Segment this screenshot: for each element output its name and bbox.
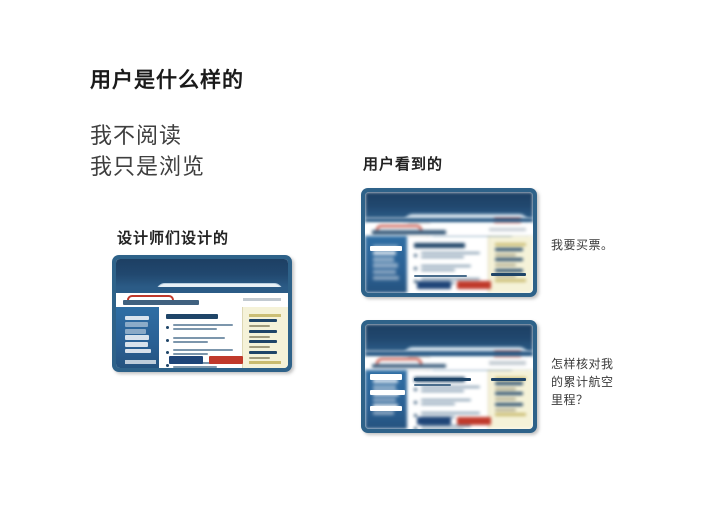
focus-first-bullet: [414, 378, 471, 381]
subhead-line-1: 我不阅读: [90, 120, 205, 151]
focus-rail-heading: [491, 273, 526, 276]
sidebar-footer-link[interactable]: [125, 360, 156, 364]
focus-sidebar-choose-a-flight[interactable]: [370, 406, 402, 411]
enroll-button[interactable]: [417, 417, 451, 425]
user-quote-2-line-1: 怎样核对我: [551, 355, 614, 373]
enroll-button[interactable]: [417, 281, 451, 289]
site-sidebar: [365, 236, 407, 293]
screenshot-user-version-1[interactable]: [361, 188, 537, 297]
site-date: [243, 298, 281, 302]
focus-sidebar-track-my-miles[interactable]: [370, 246, 402, 251]
rail-item[interactable]: [495, 258, 526, 266]
cta-button-row: [417, 281, 491, 289]
learn-more-button[interactable]: [457, 417, 491, 425]
enroll-button[interactable]: [169, 356, 203, 364]
site-right-rail: [242, 307, 288, 368]
sidebar-item-office-traveler-hub[interactable]: [125, 349, 151, 354]
bullet-dot-icon: [414, 267, 417, 270]
site-body: [365, 236, 533, 293]
biztravel-logo[interactable]: [372, 225, 446, 234]
focus-sidebar-check-a-fare[interactable]: [370, 390, 405, 395]
sidebar-item-track-my-miles[interactable]: [373, 385, 396, 390]
screenshot-user-version-2[interactable]: [361, 320, 537, 433]
site-body: [116, 307, 288, 368]
caption-user-version: 用户看到的: [363, 153, 443, 174]
bullet-dot-icon: [414, 427, 417, 429]
site-sidebar: [116, 307, 159, 368]
biztravel-logo[interactable]: [372, 358, 446, 368]
rail-footer-link[interactable]: [249, 361, 281, 364]
site-main-column: [407, 236, 488, 293]
rail-item[interactable]: [495, 248, 526, 256]
rail-item[interactable]: [249, 319, 281, 327]
site-logo-bar: [116, 293, 288, 308]
learn-more-button[interactable]: [209, 356, 243, 364]
user-quote-1-line-1: 我要买票。: [551, 236, 614, 254]
rail-item[interactable]: [495, 403, 526, 411]
user-quote-2-line-2: 的累计航空: [551, 373, 614, 391]
sidebar-item-office-traveler-hub[interactable]: [373, 411, 394, 416]
bullet-dot-icon: [414, 388, 417, 391]
sidebar-item-choose-a-seat[interactable]: [125, 342, 148, 347]
site-main-column: [159, 307, 242, 368]
sidebar-item-plan-a-meeting[interactable]: [373, 263, 397, 267]
screenshot-designer-version[interactable]: [112, 255, 292, 372]
rail-item[interactable]: [249, 340, 281, 348]
bullet-item: [414, 265, 483, 273]
sidebar-item-track-my-miles[interactable]: [125, 322, 148, 327]
logo-wordmark: [372, 230, 446, 235]
sidebar-item-check-a-fare[interactable]: [373, 257, 394, 261]
bullet-dot-icon: [166, 351, 169, 354]
rail-heading: [495, 243, 526, 246]
rail-item[interactable]: [495, 392, 526, 400]
page-title: 用户是什么样的: [90, 64, 244, 94]
bullet-dot-icon: [166, 364, 169, 367]
bullet-item: [414, 425, 483, 429]
site-logo-bar: [365, 223, 533, 237]
rail-footer-link[interactable]: [495, 413, 526, 416]
browser-mock-blurred-2: [365, 324, 533, 429]
main-headline: [414, 243, 465, 247]
bullet-item: [414, 252, 483, 260]
logo-arc-icon: [376, 358, 422, 363]
cta-button-row: [417, 417, 491, 425]
bullet-text: [173, 324, 237, 332]
subhead-block: 我不阅读 我只是浏览: [90, 120, 205, 182]
user-quote-2: 怎样核对我 的累计航空 里程？: [551, 355, 614, 409]
site-right-rail: [488, 236, 533, 293]
sidebar-item-office-traveler-hub[interactable]: [373, 276, 399, 280]
bullet-item: [166, 337, 237, 345]
browser-mock-sharp: [116, 259, 288, 368]
site-date: [489, 228, 526, 231]
focus-bullet-last-line: [414, 275, 468, 277]
bullet-dot-icon: [166, 339, 169, 342]
sidebar-item-track-my-miles[interactable]: [373, 251, 396, 255]
bullet-dot-icon: [166, 326, 169, 329]
sidebar-item-check-a-fare[interactable]: [125, 329, 146, 334]
focus-first-bullet-sub: [414, 384, 451, 386]
bullet-item: [166, 324, 237, 332]
logo-wordmark: [123, 300, 199, 305]
sidebar-item-plan-a-meeting[interactable]: [125, 335, 150, 340]
learn-more-button[interactable]: [457, 281, 491, 289]
cta-button-row: [169, 356, 243, 364]
rail-footer-link[interactable]: [495, 279, 526, 281]
bullet-item: [414, 399, 483, 407]
bullet-dot-icon: [414, 254, 417, 257]
browser-mock-blurred-1: [365, 192, 533, 293]
slide-canvas: 用户是什么样的 我不阅读 我只是浏览 设计师们设计的 用户看到的: [0, 0, 720, 509]
main-headline: [166, 314, 218, 319]
rail-item[interactable]: [495, 382, 526, 390]
user-quote-1: 我要买票。: [551, 236, 614, 254]
bullet-text: [173, 337, 237, 345]
bullet-item: [414, 386, 483, 394]
sidebar-item-book-a-trip[interactable]: [125, 316, 150, 321]
user-quote-2-line-3: 里程？: [551, 391, 614, 409]
focus-sidebar-book-a-trip[interactable]: [370, 374, 402, 379]
caption-designer-version: 设计师们设计的: [117, 227, 229, 248]
sidebar-item-plan-a-meeting[interactable]: [373, 398, 396, 403]
rail-item[interactable]: [249, 351, 281, 359]
site-logo-bar: [365, 357, 533, 372]
bullet-dot-icon: [414, 401, 417, 404]
rail-heading: [249, 314, 281, 317]
site-date: [489, 361, 526, 365]
logo-wordmark: [372, 364, 446, 369]
biztravel-logo[interactable]: [123, 295, 199, 305]
sidebar-item-choose-a-seat[interactable]: [373, 270, 396, 274]
rail-item[interactable]: [249, 330, 281, 338]
subhead-line-2: 我只是浏览: [90, 151, 205, 182]
focus-rail-heading: [491, 378, 526, 381]
